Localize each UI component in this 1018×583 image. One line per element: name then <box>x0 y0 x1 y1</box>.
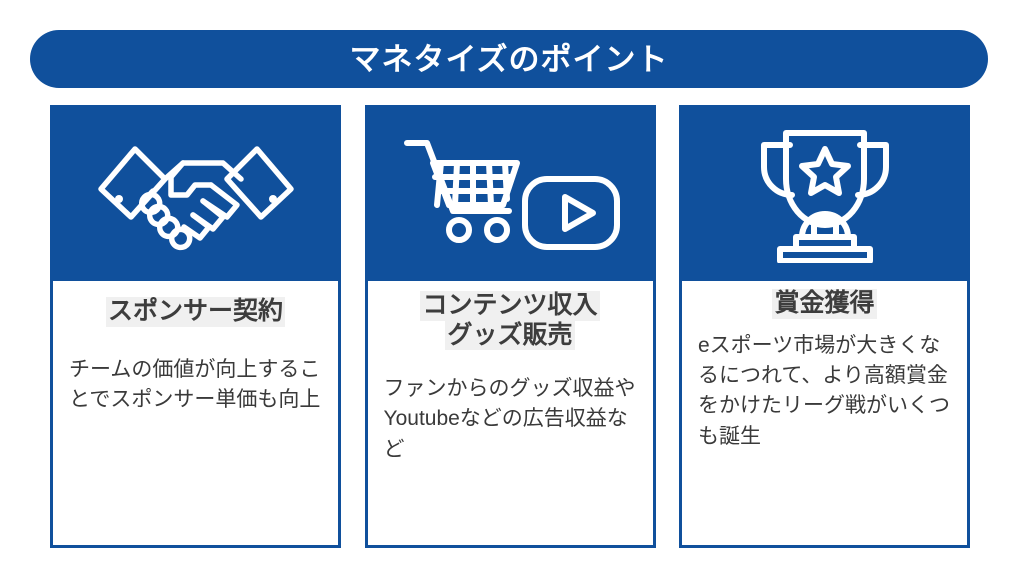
card-heading-line: コンテンツ収入 <box>420 291 599 321</box>
card-body: コンテンツ収入 グッズ販売 ファンからのグッズ収益やYoutubeなどの広告収益… <box>368 281 653 545</box>
card-description: チームの価値が向上することでスポンサー単価も向上 <box>69 355 322 416</box>
card-heading: スポンサー契約 <box>69 297 322 327</box>
handshake-icon <box>91 133 301 253</box>
card-heading-line: 賞金獲得 <box>772 289 876 319</box>
slide-root: マネタイズのポイント <box>0 0 1018 583</box>
card-row: スポンサー契約 チームの価値が向上することでスポンサー単価も向上 <box>50 105 970 548</box>
card-icon-area <box>679 105 970 281</box>
card-heading: コンテンツ収入 グッズ販売 <box>384 291 637 350</box>
card-heading-line: スポンサー契約 <box>106 297 285 327</box>
trophy-icon <box>750 123 900 263</box>
card-sponsorship: スポンサー契約 チームの価値が向上することでスポンサー単価も向上 <box>50 105 341 548</box>
shopping-cart-video-icon <box>397 129 623 257</box>
card-description: ファンからのグッズ収益やYoutubeなどの広告収益など <box>384 374 637 465</box>
card-heading-line: グッズ販売 <box>445 321 574 351</box>
card-content-revenue: コンテンツ収入 グッズ販売 ファンからのグッズ収益やYoutubeなどの広告収益… <box>365 105 656 548</box>
card-body: 賞金獲得 eスポーツ市場が大きくなるにつれて、より高額賞金をかけたリーグ戦がいく… <box>682 281 967 545</box>
card-icon-area <box>365 105 656 281</box>
card-prize-money: 賞金獲得 eスポーツ市場が大きくなるにつれて、より高額賞金をかけたリーグ戦がいく… <box>679 105 970 548</box>
card-description: eスポーツ市場が大きくなるにつれて、より高額賞金をかけたリーグ戦がいくつも誕生 <box>698 331 951 453</box>
card-icon-area <box>50 105 341 281</box>
slide-title-banner: マネタイズのポイント <box>30 30 988 88</box>
page-title: マネタイズのポイント <box>349 44 668 75</box>
card-heading: 賞金獲得 <box>698 289 951 319</box>
card-body: スポンサー契約 チームの価値が向上することでスポンサー単価も向上 <box>53 281 338 545</box>
